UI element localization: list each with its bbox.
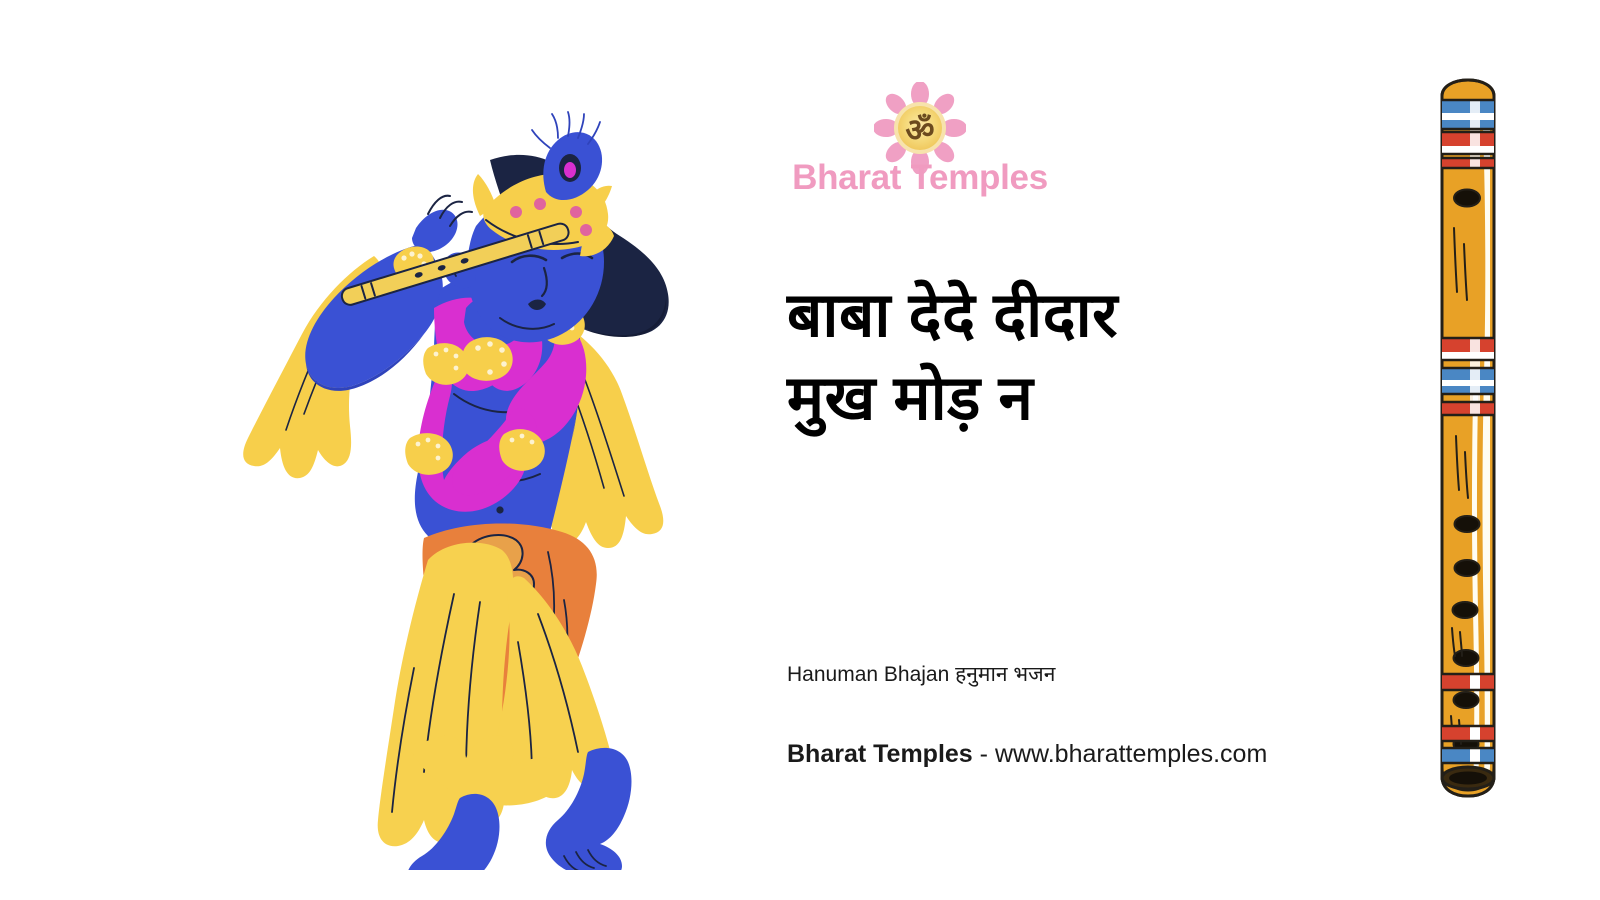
footer-website-url: www.bharattemples.com bbox=[995, 740, 1267, 768]
bamboo-flute-illustration bbox=[1424, 76, 1528, 800]
brand-logo: ॐ Bharat Temples bbox=[762, 82, 1078, 208]
svg-text:ॐ: ॐ bbox=[905, 112, 934, 148]
page-title-line-1: बाबा देदे दीदार bbox=[787, 274, 1347, 357]
logo-wordmark: Bharat Temples bbox=[762, 158, 1078, 198]
footer-attribution: Bharat Temples - www.bharattemples.com bbox=[787, 740, 1267, 769]
subtitle-category: Hanuman Bhajan हनुमान भजन bbox=[787, 660, 1055, 688]
poster-canvas: ॐ Bharat Temples बाबा देदे दीदार मुख मोड… bbox=[0, 0, 1600, 900]
footer-separator: - bbox=[973, 740, 995, 768]
page-title: बाबा देदे दीदार मुख मोड़ न bbox=[787, 274, 1347, 440]
footer-brand-name: Bharat Temples bbox=[787, 740, 973, 768]
page-title-line-2: मुख मोड़ न bbox=[787, 357, 1347, 440]
krishna-playing-flute-illustration bbox=[228, 108, 684, 870]
